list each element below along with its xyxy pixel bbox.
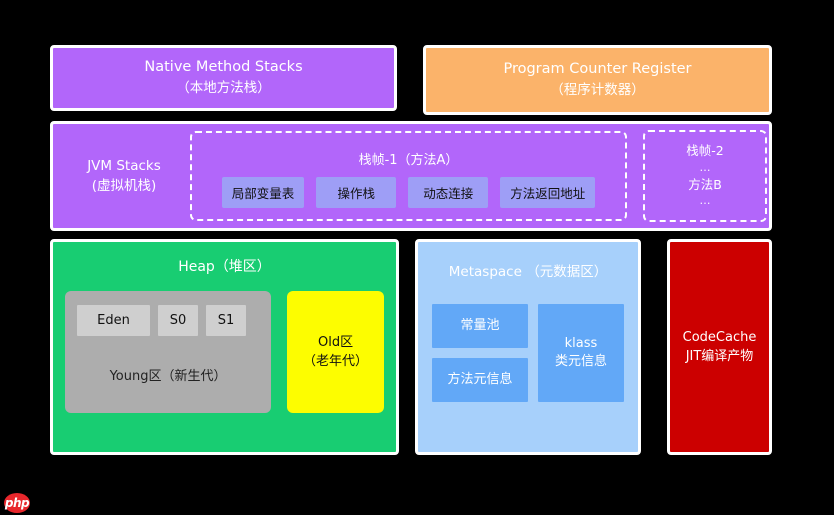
jvm-stacks-title-en: JVM Stacks (87, 158, 161, 174)
stack-frame-2-method: 方法B (688, 177, 722, 194)
frame-part-local-variable-table: 局部变量表 (222, 177, 305, 208)
php-logo-watermark: php (4, 493, 30, 513)
codecache-label: CodeCache JIT编译产物 (683, 328, 757, 367)
old-generation-label-line2: （老年代） (303, 354, 368, 369)
jvm-stacks-title-cn: (虚拟机栈) (92, 178, 157, 194)
codecache-label-line1: CodeCache (683, 330, 757, 345)
old-generation-region: Old区 （老年代） (287, 291, 384, 413)
jvm-stacks-label: JVM Stacks (虚拟机栈) (63, 156, 185, 197)
metaspace-klass-info-text: klass 类元信息 (555, 335, 607, 371)
native-method-stacks-title-cn: （本地方法栈） (176, 80, 271, 96)
panel-native-method-stacks: Native Method Stacks （本地方法栈） (50, 45, 397, 111)
old-generation-label-line1: Old区 (318, 335, 353, 350)
program-counter-register-label: Program Counter Register （程序计数器） (503, 59, 691, 101)
young-region-s1: S1 (206, 305, 246, 336)
program-counter-register-title-en: Program Counter Register (503, 61, 691, 77)
codecache-label-line2: JIT编译产物 (686, 349, 754, 364)
stack-frame-1: 栈帧-1（方法A） 局部变量表 操作栈 动态连接 方法返回地址 (190, 131, 627, 221)
diagram-canvas: Native Method Stacks （本地方法栈） Program Cou… (0, 0, 834, 515)
stack-frame-2-dots-top: … (700, 161, 711, 176)
heap-body: Eden S0 S1 Young区（新生代） Old区 （老年代） (53, 291, 396, 413)
panel-heap: Heap（堆区） Eden S0 S1 Young区（新生代） Old区 （老年… (50, 239, 399, 455)
frame-part-operand-stack: 操作栈 (316, 177, 396, 208)
frame-part-return-address: 方法返回地址 (500, 177, 595, 208)
metaspace-klass-line1: klass (565, 336, 598, 351)
stack-frame-2: 栈帧-2 … 方法B … (643, 130, 767, 222)
stack-frame-1-parts: 局部变量表 操作栈 动态连接 方法返回地址 (222, 177, 596, 208)
stack-frame-2-title: 栈帧-2 (686, 143, 723, 160)
young-generation-label: Young区（新生代） (77, 365, 259, 384)
native-method-stacks-label: Native Method Stacks （本地方法栈） (144, 57, 302, 99)
stack-frame-2-dots-bottom: … (700, 194, 711, 209)
stack-frame-1-title: 栈帧-1（方法A） (359, 149, 459, 168)
young-region-s0: S0 (158, 305, 198, 336)
frame-part-dynamic-linking: 动态连接 (408, 177, 488, 208)
php-logo-text: php (5, 497, 29, 509)
young-generation-subregions: Eden S0 S1 (77, 305, 259, 336)
young-generation-region: Eden S0 S1 Young区（新生代） (65, 291, 271, 413)
metaspace-klass-line2: 类元信息 (555, 354, 607, 369)
metaspace-klass-info: klass 类元信息 (538, 304, 624, 402)
metaspace-left-column: 常量池 方法元信息 (432, 304, 528, 402)
young-region-eden: Eden (77, 305, 150, 336)
heap-title: Heap（堆区） (53, 256, 396, 276)
metaspace-constant-pool: 常量池 (432, 304, 528, 348)
panel-program-counter-register: Program Counter Register （程序计数器） (423, 45, 772, 115)
panel-codecache: CodeCache JIT编译产物 (667, 239, 772, 455)
panel-metaspace: Metaspace （元数据区） 常量池 方法元信息 klass 类元信息 (415, 239, 641, 455)
native-method-stacks-title-en: Native Method Stacks (144, 59, 302, 75)
program-counter-register-title-cn: （程序计数器） (550, 82, 645, 98)
old-generation-label: Old区 （老年代） (303, 333, 368, 372)
metaspace-body: 常量池 方法元信息 klass 类元信息 (418, 304, 638, 402)
metaspace-title: Metaspace （元数据区） (418, 260, 638, 280)
metaspace-method-meta-info: 方法元信息 (432, 358, 528, 402)
panel-jvm-stacks: JVM Stacks (虚拟机栈) 栈帧-1（方法A） 局部变量表 操作栈 动态… (50, 121, 772, 231)
